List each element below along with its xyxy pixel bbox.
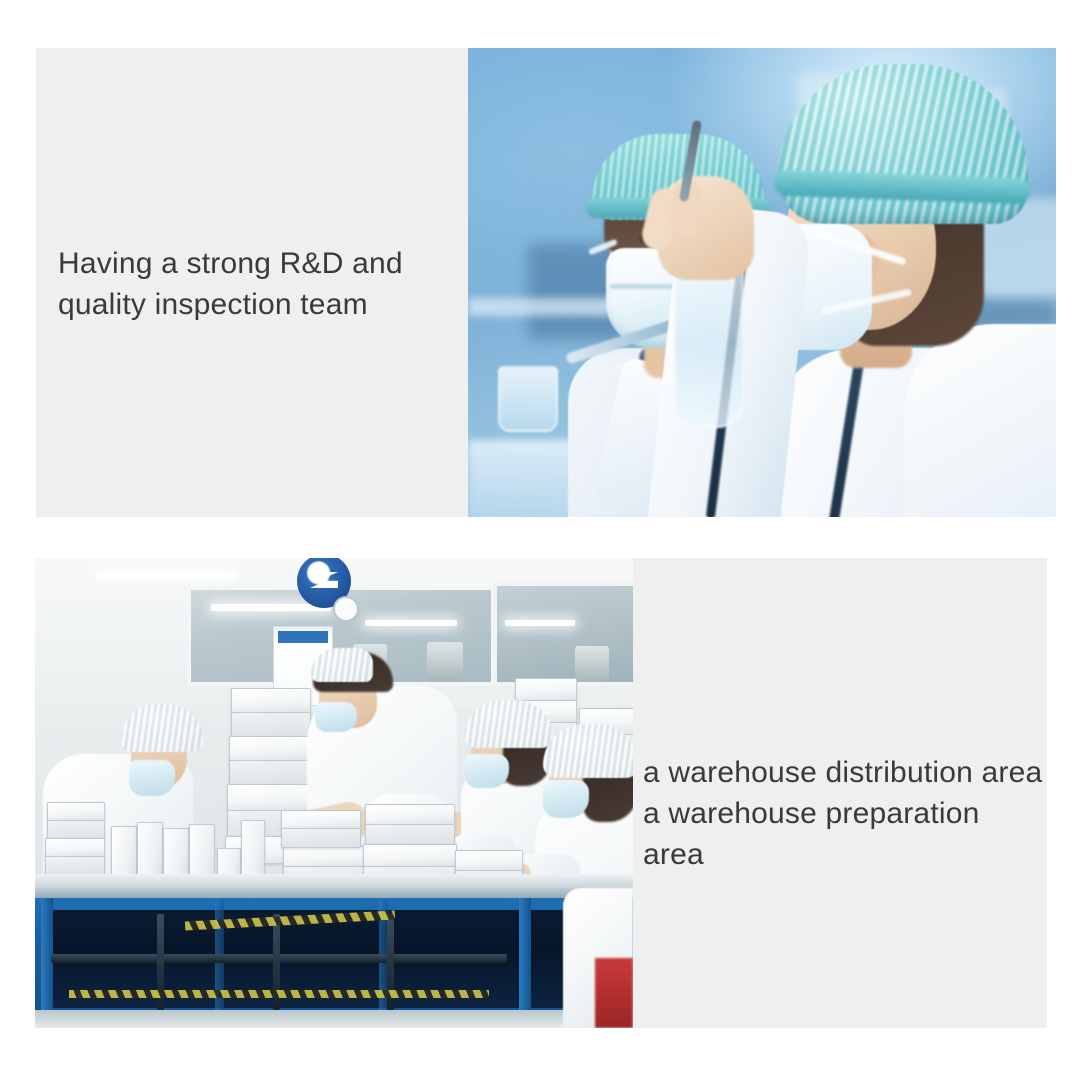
carton-box bbox=[365, 804, 455, 826]
table-leg bbox=[519, 898, 531, 1018]
cleanroom-window bbox=[493, 582, 633, 686]
carton-box bbox=[363, 844, 457, 868]
carton-box bbox=[515, 678, 577, 702]
carton-box bbox=[227, 784, 311, 812]
carton-box bbox=[45, 838, 105, 858]
lab-inspection-photo bbox=[468, 48, 1056, 517]
carton-box bbox=[231, 712, 311, 738]
ceiling-light-icon bbox=[365, 620, 457, 626]
page-canvas: Having a strong R&D and quality inspecti… bbox=[0, 0, 1080, 1080]
face-mask-icon bbox=[543, 780, 589, 818]
floor-hazard-tape bbox=[69, 990, 489, 998]
carton-box bbox=[455, 850, 523, 872]
ceiling-light-icon bbox=[505, 620, 575, 626]
lab-worker-shoulder bbox=[904, 324, 1056, 517]
carton-box bbox=[45, 856, 105, 876]
warehouse-packing-photo bbox=[35, 558, 633, 1028]
face-mask-icon bbox=[315, 702, 357, 732]
carton-box bbox=[229, 736, 311, 762]
warehouse-areas-caption: a warehouse distribution area a warehous… bbox=[643, 752, 1043, 875]
steel-pot-icon bbox=[575, 646, 609, 682]
carton-box bbox=[229, 760, 311, 786]
carton-box bbox=[47, 802, 105, 822]
beaker-icon bbox=[498, 366, 558, 432]
hairnet-icon bbox=[311, 648, 373, 682]
carton-box bbox=[365, 824, 455, 846]
face-mask-icon bbox=[129, 760, 175, 796]
wall-clock-icon bbox=[333, 596, 359, 622]
steel-pot-icon bbox=[427, 642, 463, 682]
carton-box bbox=[231, 688, 311, 714]
carton-box bbox=[281, 810, 361, 830]
warehouse-floor bbox=[35, 1010, 633, 1028]
carton-box bbox=[47, 820, 105, 840]
face-mask-icon bbox=[465, 754, 509, 788]
ceiling-light-icon bbox=[97, 572, 237, 578]
warehouse-worker-clothing bbox=[595, 958, 633, 1028]
carton-box bbox=[281, 828, 361, 848]
rnd-quality-caption: Having a strong R&D and quality inspecti… bbox=[58, 243, 448, 325]
